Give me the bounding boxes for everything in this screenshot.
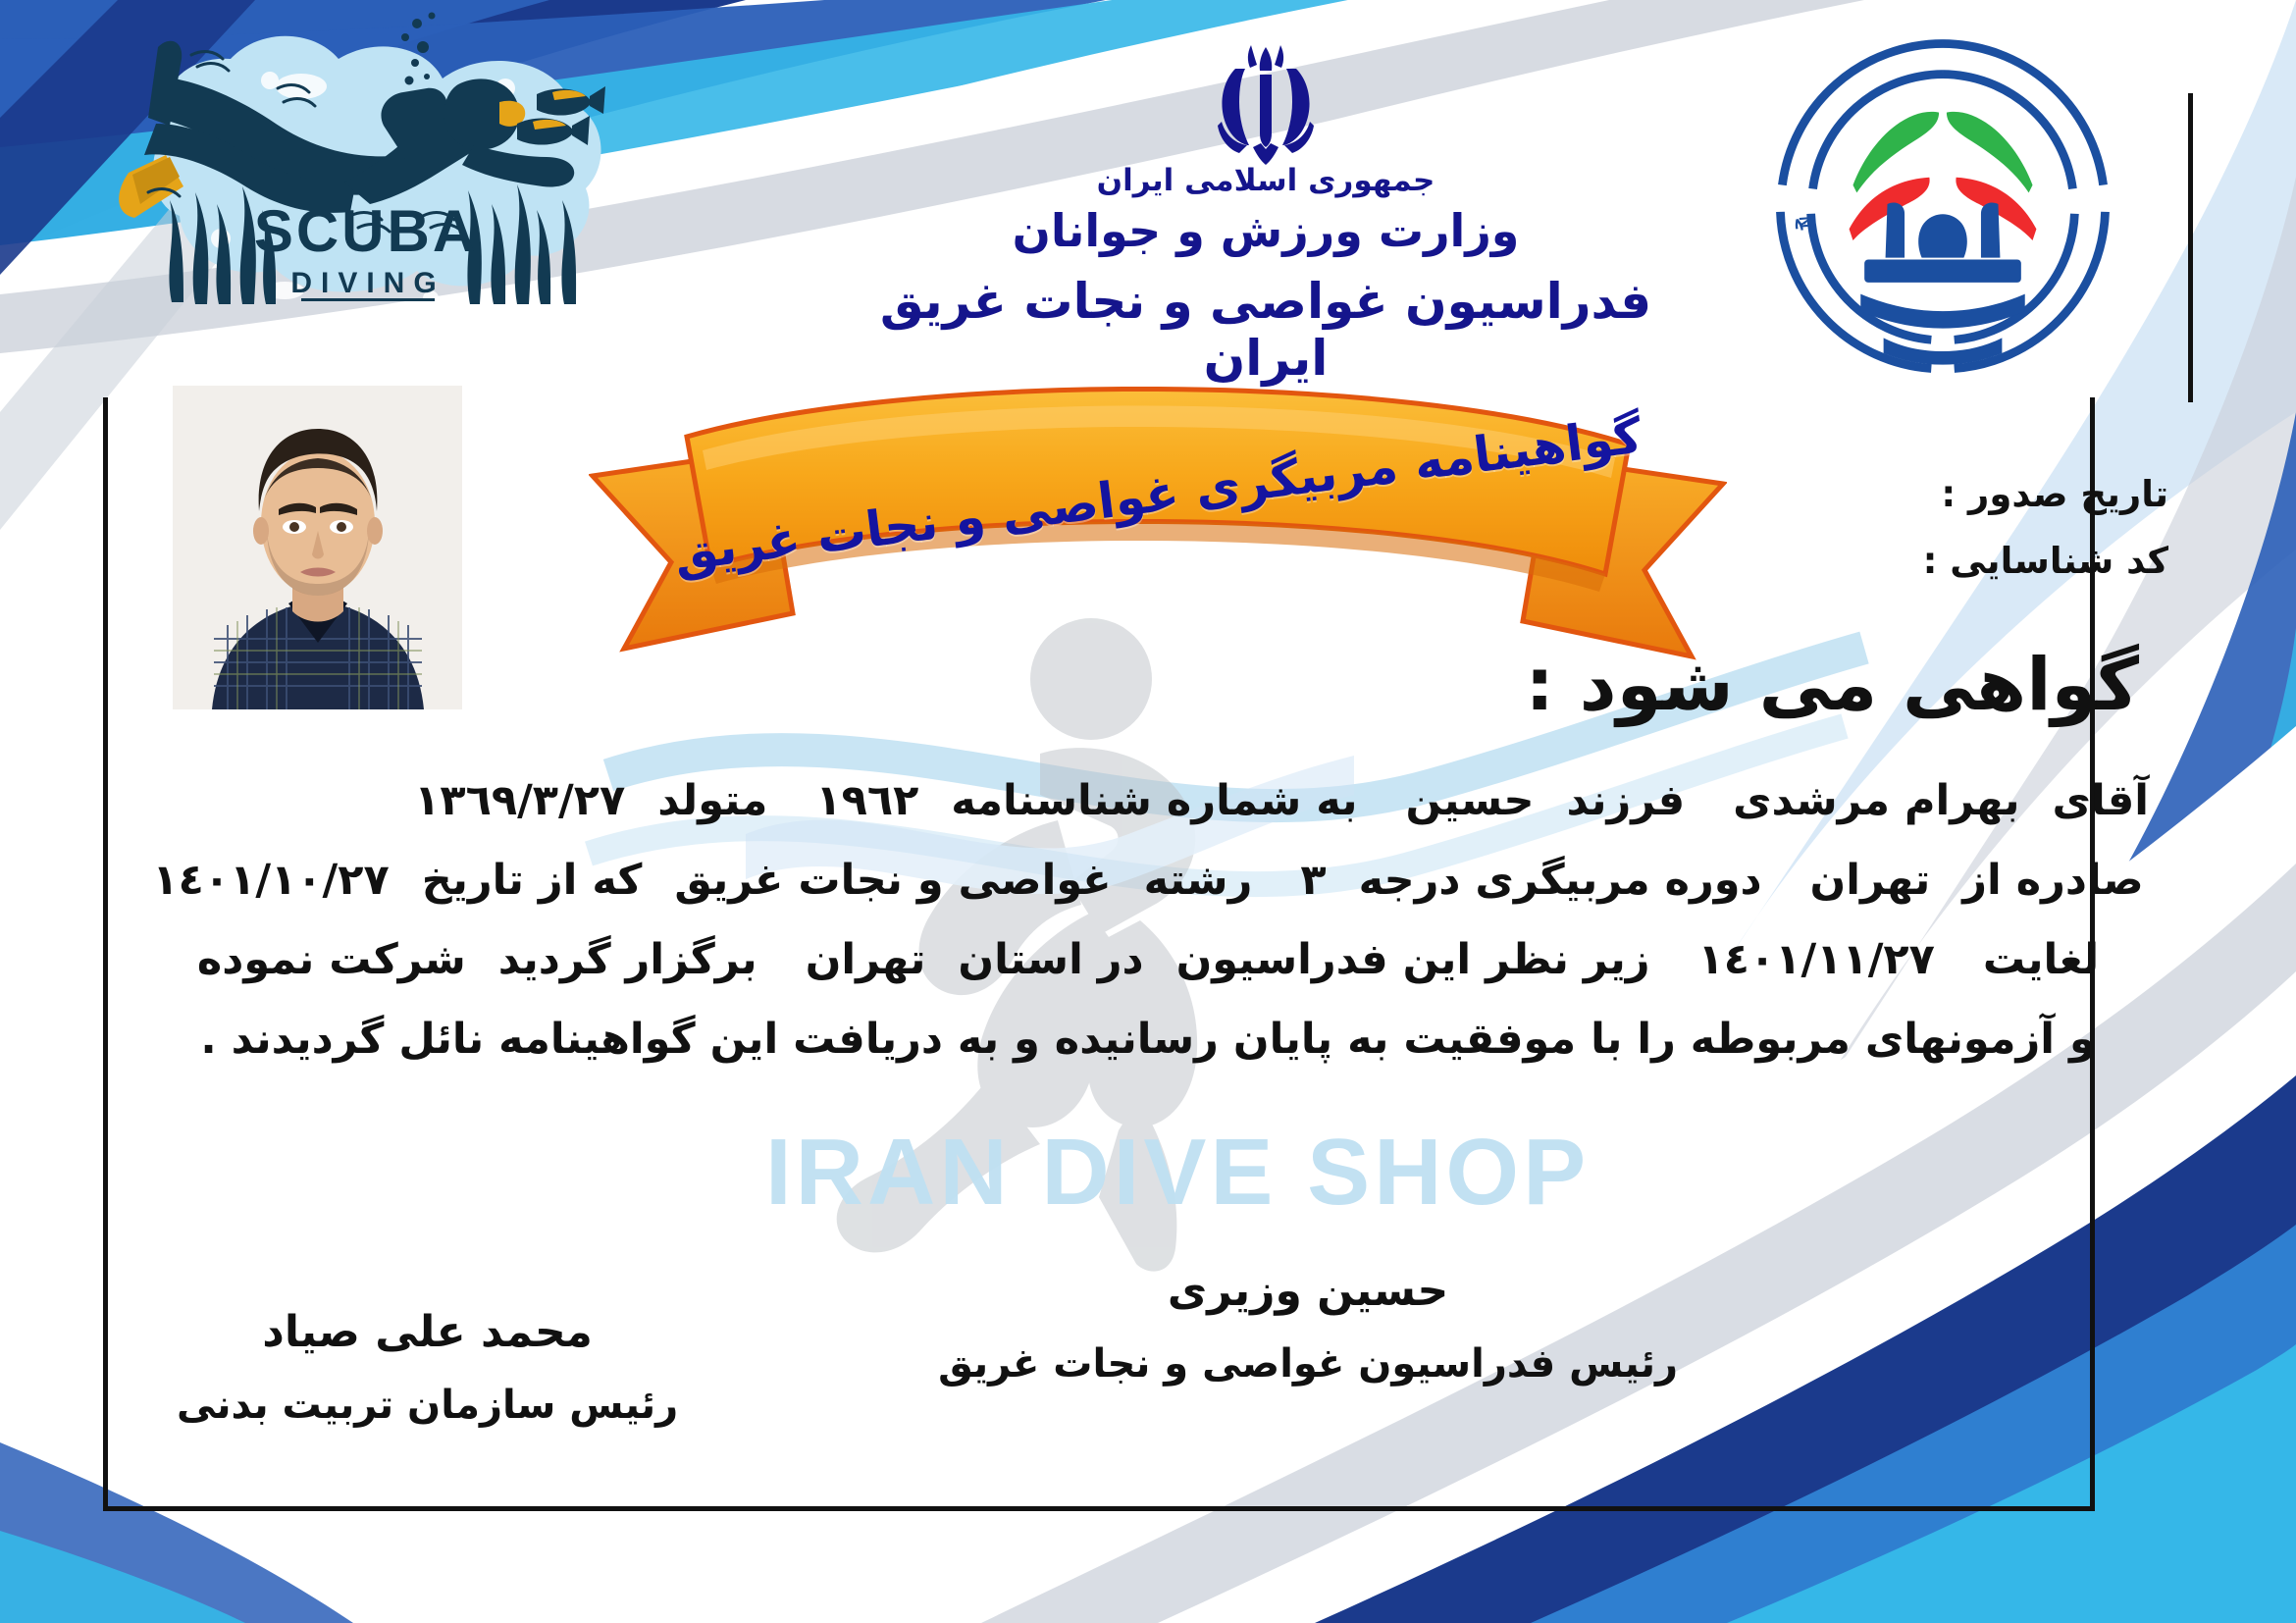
supervision-text: زیر نظر این فدراسیون (1176, 935, 1650, 984)
id-number-value: ١٩٦٢ (815, 776, 918, 825)
shop-watermark: IRAN DIVE SHOP (765, 1119, 1590, 1227)
from-date-value: ١٤٠١/١٠/٢٧ (152, 856, 389, 905)
frame-edge-left (103, 397, 108, 1511)
certificate-body: آقای بهرام مرشدی فرزند حسین به شماره شنا… (147, 780, 2149, 1098)
birth-label: متولد (657, 776, 767, 825)
frame-edge-bottom (103, 1506, 932, 1511)
from-date-label: که از تاریخ (422, 856, 643, 905)
portrait-photo (173, 386, 462, 709)
course-label: دوره مربیگری درجه (1359, 856, 1762, 905)
held-text: برگزار گردید (498, 935, 757, 984)
emblem-arc-bottom-right: LIFESAVING &DIVING FEDERATION (1761, 25, 1767, 28)
header-ministry: وزارت ورزش و جوانان (844, 204, 1688, 257)
issue-date-label: تاریخ صدور : (1923, 461, 2168, 528)
certify-heading: گواهی می شود : (1525, 643, 2139, 727)
to-date-value: ١٤٠١/١١/٢٧ (1698, 935, 1935, 984)
federation-emblem-icon: جمهوری اسلامی ایران فدراسیون نجات غریق و… (1761, 25, 2124, 388)
emblem-arc-top-right: فدراسیون نجات غریق و غواصی (1761, 25, 1770, 29)
certificate-meta: تاریخ صدور : کد شناسایی : (1923, 461, 2168, 596)
id-code-label: کد شناسایی : (1923, 528, 2168, 595)
salutation: آقای (2053, 776, 2149, 825)
body-line-2: صادره از تهران دوره مربیگری درجه ٣ رشته … (147, 860, 2149, 902)
holder-full-name: بهرام مرشدی (1733, 776, 2019, 825)
signer-name-right: حسین وزیری (938, 1266, 1678, 1316)
issued-from-label: صادره از (1962, 856, 2143, 905)
certificate-title-ribbon: گواهینامه مربیگری غواصی و نجات غریق (589, 368, 1727, 667)
signature-sports-org-president: محمد علی صیاد رئیس سازمان تربیت بدنی (177, 1307, 678, 1428)
birth-date-value: ١٣٦٩/٣/٢٧ (414, 776, 625, 825)
federation-emblem: جمهوری اسلامی ایران فدراسیون نجات غریق و… (1761, 25, 2124, 388)
certificate-page: SCUBA DIVING (0, 0, 2296, 1623)
header-emblem-caption: جمهوری اسلامی ایران (844, 163, 1688, 198)
to-label: لغایت (1983, 935, 2099, 984)
iran-national-emblem-icon (1192, 39, 1339, 167)
field-label: رشته (1144, 856, 1253, 905)
signer-role-left: رئیس سازمان تربیت بدنی (177, 1383, 678, 1428)
signer-name-left: محمد علی صیاد (177, 1307, 678, 1357)
document-header: جمهوری اسلامی ایران وزارت ورزش و جوانان … (844, 39, 1688, 387)
body-line-3: لغایت ١٤٠١/١١/٢٧ زیر نظر این فدراسیون در… (147, 939, 2149, 981)
issued-from-value: تهران (1810, 856, 1931, 905)
scuba-wordmark: SCUBA (254, 198, 478, 264)
scuba-diving-logo: SCUBA DIVING (93, 8, 643, 317)
province-label: در استان (958, 935, 1143, 984)
signature-block: حسین وزیری رئیس فدراسیون غواصی و نجات غر… (147, 1266, 2149, 1492)
body-line-4: و آزمونهای مربوطه را با موفقیت به پایان … (147, 1019, 2149, 1061)
course-grade-value: ٣ (1300, 856, 1326, 905)
body-line-1: آقای بهرام مرشدی فرزند حسین به شماره شنا… (147, 780, 2149, 822)
diving-wordmark: DIVING (290, 267, 444, 299)
frame-edge-top-right (2188, 93, 2193, 402)
province-value: تهران (806, 935, 926, 984)
id-number-label: به شماره شناسنامه (951, 776, 1357, 825)
signer-role-right: رئیس فدراسیون غواصی و نجات غریق (938, 1341, 1678, 1387)
scuba-diving-logo-icon: SCUBA DIVING (93, 8, 643, 317)
father-name: حسین (1406, 776, 1535, 825)
participated-text: شرکت نموده (197, 935, 466, 984)
field-value: غواصی و نجات غریق (674, 856, 1111, 905)
emblem-arc-bottom-left: ISLAMIC REPUBLIC OF IRAN (1761, 25, 1814, 229)
signature-federation-president: حسین وزیری رئیس فدراسیون غواصی و نجات غر… (938, 1266, 1678, 1387)
father-label: فرزند (1567, 776, 1686, 825)
holder-photo (173, 386, 462, 709)
